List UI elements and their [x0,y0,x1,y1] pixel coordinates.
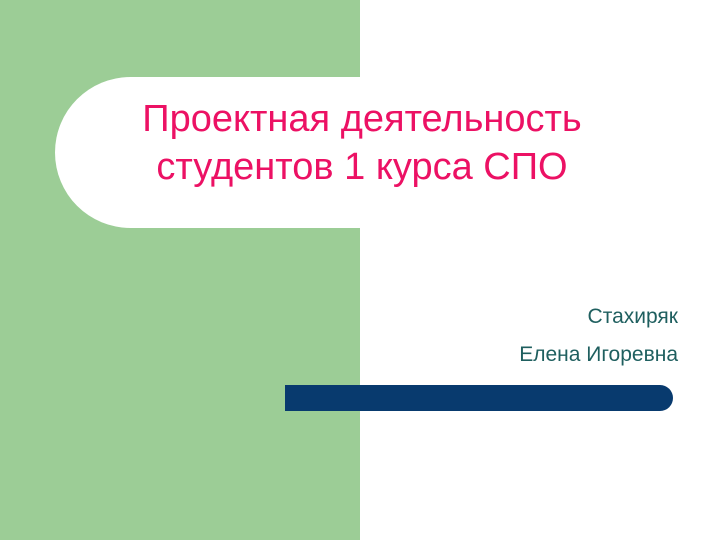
slide-title: Проектная деятельность студентов 1 курса… [52,95,672,191]
subtitle-line-author-surname: Стахиряк [278,298,678,336]
presentation-slide: Проектная деятельность студентов 1 курса… [0,0,720,540]
navy-accent-bar [285,385,673,411]
slide-subtitle: Стахиряк Елена Игоревна [278,298,678,374]
subtitle-line-author-name: Елена Игоревна [278,336,678,374]
